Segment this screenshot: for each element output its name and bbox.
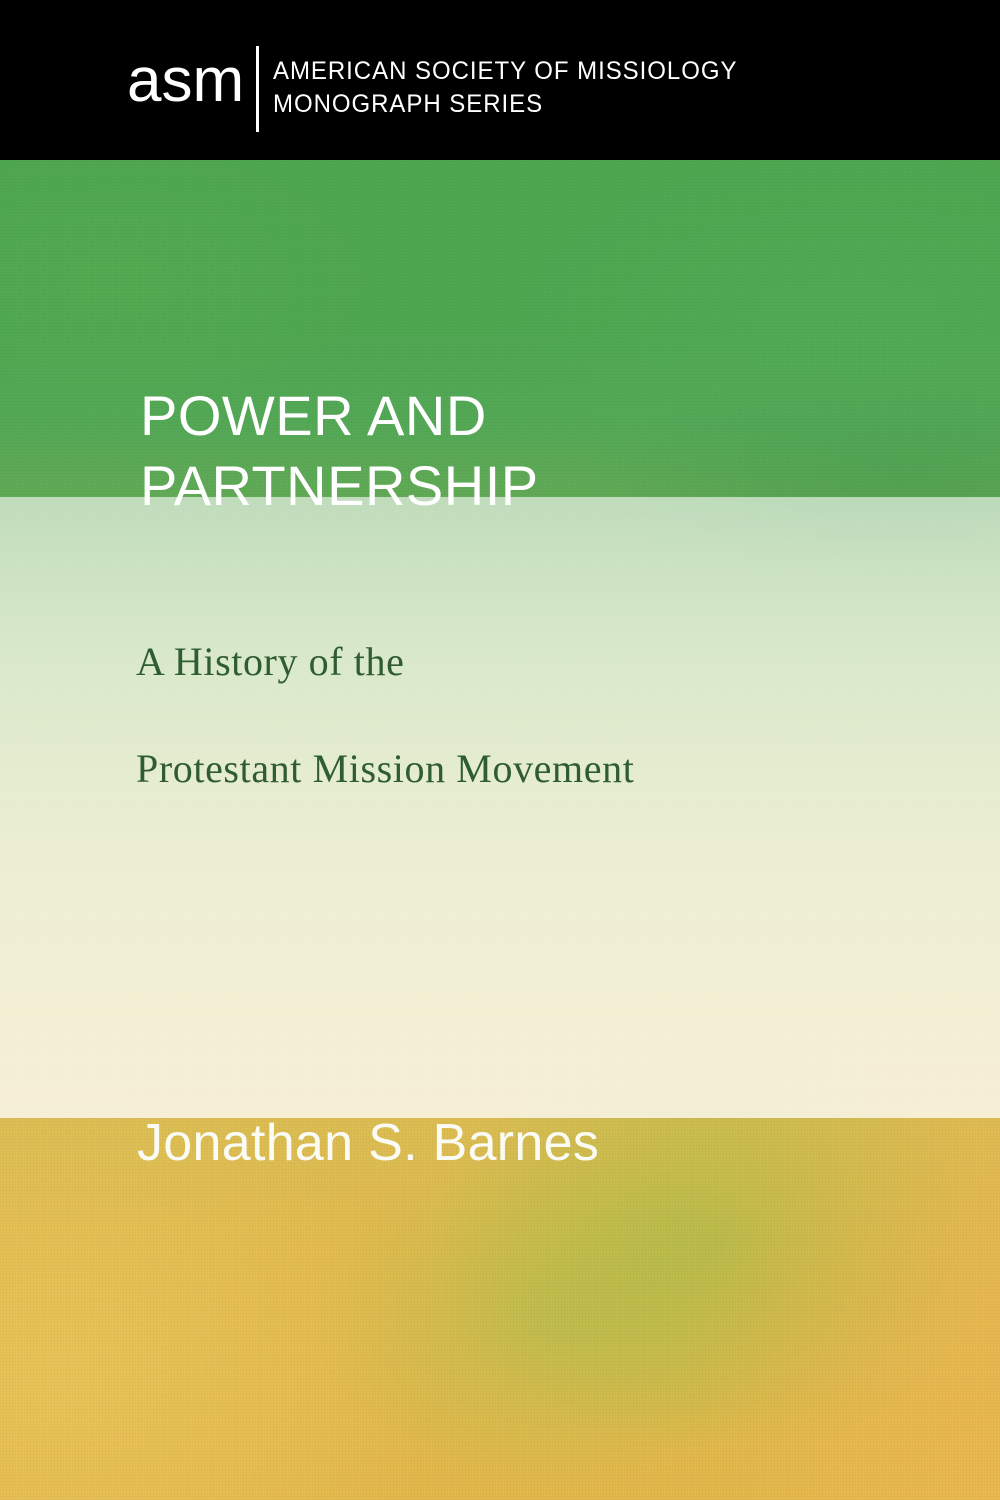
series-name-line-1: AMERICAN SOCIETY OF MISSIOLOGY: [273, 55, 737, 88]
series-name-line-2: MONOGRAPH SERIES: [273, 88, 737, 121]
book-subtitle-line-1: A History of the: [136, 608, 916, 715]
book-author: Jonathan S. Barnes: [137, 1112, 599, 1174]
book-subtitle: A History of the Protestant Mission Move…: [136, 608, 916, 822]
book-title-line-1: POWER AND: [140, 381, 900, 451]
book-title-line-2: PARTNERSHIP: [140, 451, 900, 521]
asm-wordmark-icon: asm: [127, 50, 244, 112]
book-subtitle-line-2: Protestant Mission Movement: [136, 715, 916, 822]
series-header-band: asm AMERICAN SOCIETY OF MISSIOLOGY MONOG…: [0, 0, 1000, 160]
book-author-name: Jonathan S. Barnes: [137, 1112, 599, 1174]
series-name: AMERICAN SOCIETY OF MISSIOLOGY MONOGRAPH…: [273, 55, 757, 121]
book-title: POWER AND PARTNERSHIP: [140, 381, 900, 521]
vertical-rule-divider-icon: [256, 46, 259, 132]
book-cover: asm AMERICAN SOCIETY OF MISSIOLOGY MONOG…: [0, 0, 1000, 1500]
